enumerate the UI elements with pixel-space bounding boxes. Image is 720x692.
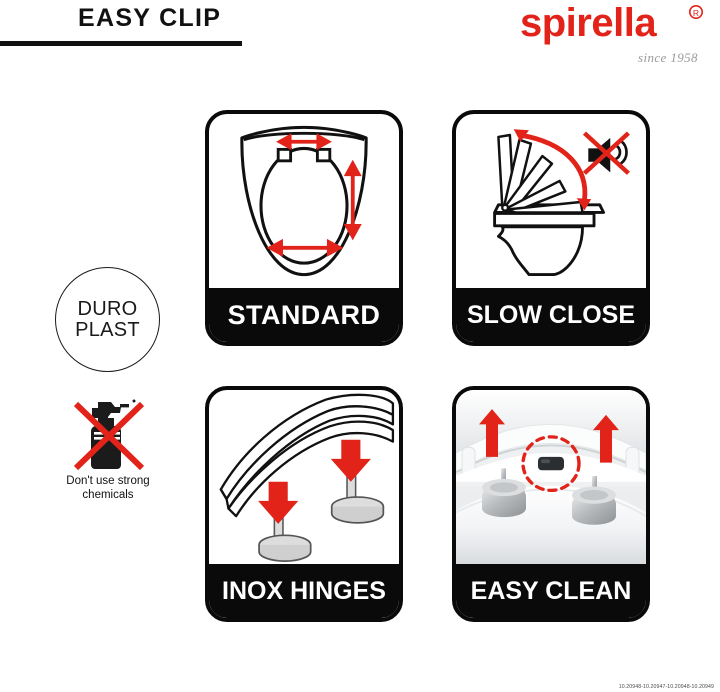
- svg-text:spirella: spirella: [520, 2, 657, 45]
- warning-caption: Don't use strong chemicals: [52, 474, 164, 502]
- warning-caption-line1: Don't use strong: [52, 474, 164, 488]
- page-title: EASY CLIP: [78, 4, 221, 33]
- down-arrow: [331, 440, 371, 482]
- title-underline-rule: [0, 41, 242, 46]
- svg-text:R: R: [693, 8, 699, 18]
- page-header: EASY CLIP spirella R since 1958: [0, 0, 720, 86]
- panel-label-slow-close: SLOW CLOSE: [456, 288, 646, 342]
- feature-panel-inox-hinges: INOX HINGES: [205, 386, 403, 622]
- feature-panel-slow-close: SLOW CLOSE: [452, 110, 650, 346]
- panel-label-standard: STANDARD: [209, 288, 399, 342]
- material-badge-duroplast: DURO PLAST: [55, 267, 160, 372]
- material-badge-line1: DURO: [77, 299, 137, 320]
- toilet-side-view-lid-motion-icon: [456, 114, 646, 288]
- down-arrow: [258, 482, 298, 524]
- seat-hinge-posts-icon: [209, 390, 399, 564]
- product-reference-numbers: 10.20948-10.20947-10.20948-10.20949: [619, 684, 714, 690]
- feature-panel-standard: STANDARD: [205, 110, 403, 346]
- mute-speaker-icon: [584, 133, 628, 173]
- warning-caption-line2: chemicals: [52, 488, 164, 502]
- panel-label-inox-hinges: INOX HINGES: [209, 564, 399, 618]
- material-badge-line2: PLAST: [75, 320, 140, 341]
- toilet-seat-top-view-icon: [209, 114, 399, 288]
- seat-quick-release-photo: [456, 390, 646, 564]
- spray-bottle-crossed-icon: [58, 396, 158, 474]
- no-strong-chemicals-warning: Don't use strong chemicals: [58, 396, 158, 508]
- brand-tagline: since 1958: [638, 50, 698, 66]
- hinge-post: [332, 468, 384, 522]
- spirella-logo: spirella R: [520, 2, 706, 46]
- panel-label-easy-clean: EASY CLEAN: [456, 564, 646, 618]
- feature-panel-easy-clean: EASY CLEAN: [452, 386, 650, 622]
